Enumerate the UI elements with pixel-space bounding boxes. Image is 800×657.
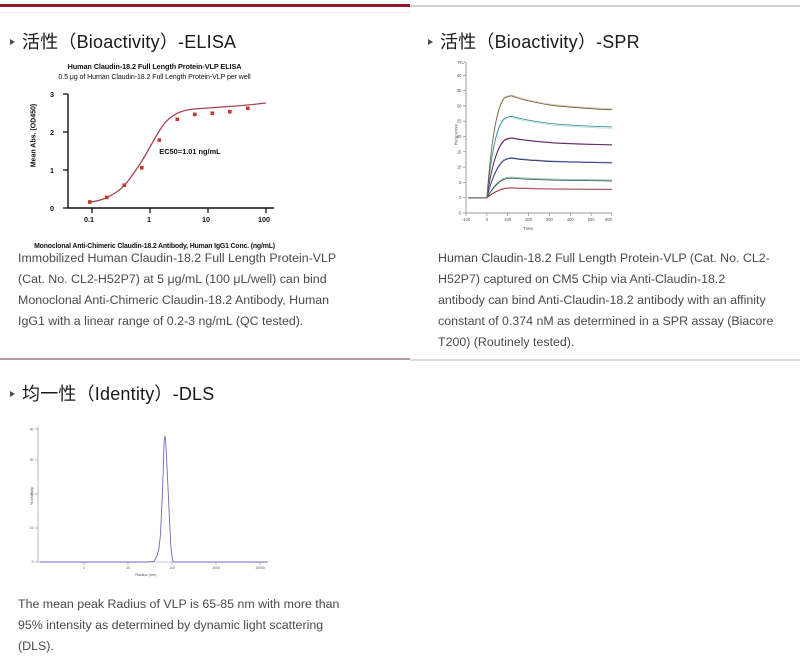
chart-spr-svg: -5 0 5 10 15 20 25 30 35 40 — [444, 58, 612, 228]
chart-elisa: Human Claudin-18.2 Full Length Protein-V… — [22, 62, 287, 234]
section-title-spr: 活性（Bioactivity）-SPR — [440, 28, 640, 54]
svg-text:300: 300 — [546, 217, 554, 222]
triangle-bullet-icon — [10, 39, 15, 45]
section-heading-spr: 活性（Bioactivity）-SPR — [428, 28, 640, 54]
elisa-ec50-annotation: EC50=1.01 ng/mL — [159, 147, 221, 156]
svg-text:40: 40 — [457, 73, 462, 78]
svg-text:0: 0 — [32, 560, 34, 564]
middle-divider — [0, 358, 800, 361]
elisa-xtick-0: 0.1 — [84, 215, 94, 224]
spr-x-ticklabels: -100 0 100 200 300 400 500 600 — [462, 217, 612, 222]
top-divider-accent — [0, 4, 410, 7]
chart-elisa-svg: EC50=1.01 ng/mL — [22, 88, 287, 238]
description-spr: Human Claudin-18.2 Full Length Protein-V… — [438, 248, 774, 353]
svg-text:30: 30 — [457, 103, 462, 108]
description-dls: The mean peak Radius of VLP is 65-85 nm … — [18, 594, 348, 657]
elisa-xtick-1: 1 — [147, 215, 151, 224]
section-title-dls: 均一性（Identity）-DLS — [22, 380, 214, 406]
spr-sensorgrams — [468, 95, 612, 198]
chart-elisa-title: Human Claudin-18.2 Full Length Protein-V… — [22, 62, 287, 72]
middle-divider-accent — [0, 358, 410, 360]
chart-spr-xlabel: Time — [444, 226, 612, 231]
svg-text:500: 500 — [588, 217, 596, 222]
svg-text:5: 5 — [459, 180, 462, 185]
svg-text:100: 100 — [504, 217, 512, 222]
section-heading-elisa: 活性（Bioactivity）-ELISA — [10, 28, 236, 54]
dls-x-ticklabels: 1 10 100 1000 10000 — [83, 566, 265, 570]
svg-text:35: 35 — [457, 88, 462, 93]
elisa-xtick-3: 100 — [258, 215, 270, 224]
chart-elisa-plot: Mean Abs. (OD450) — [22, 88, 287, 234]
triangle-bullet-icon — [428, 39, 433, 45]
svg-text:600: 600 — [605, 217, 612, 222]
top-divider — [0, 4, 800, 7]
svg-text:10: 10 — [457, 165, 462, 170]
top-divider-grey — [410, 5, 800, 7]
chart-spr: RU Response -5 — [444, 58, 612, 236]
chart-dls-xlabel: Radius (nm) — [18, 572, 274, 577]
dls-intensity-curve — [40, 436, 268, 562]
elisa-x-ticks — [92, 208, 266, 213]
section-heading-dls: 均一性（Identity）-DLS — [10, 380, 214, 406]
elisa-ytick-1: 1 — [50, 166, 54, 175]
svg-text:-100: -100 — [462, 217, 471, 222]
svg-text:100: 100 — [169, 566, 175, 570]
triangle-bullet-icon — [10, 391, 15, 397]
svg-text:200: 200 — [525, 217, 533, 222]
chart-elisa-ylabel: Mean Abs. (OD450) — [31, 96, 38, 176]
top-divider-hairline — [0, 12, 410, 13]
svg-text:1000: 1000 — [212, 566, 220, 570]
svg-text:10: 10 — [30, 526, 34, 530]
svg-text:-5: -5 — [458, 211, 462, 216]
dls-y-ticks — [35, 429, 38, 562]
chart-spr-yunit: RU — [458, 60, 465, 65]
spr-y-ticks — [463, 75, 466, 213]
svg-text:1: 1 — [83, 566, 85, 570]
section-title-elisa: 活性（Bioactivity）-ELISA — [22, 28, 236, 54]
middle-divider-grey — [410, 359, 800, 361]
svg-text:0: 0 — [486, 217, 489, 222]
spr-x-ticks — [466, 213, 612, 216]
svg-text:30: 30 — [30, 458, 34, 462]
elisa-xtick-2: 10 — [202, 215, 210, 224]
svg-text:10000: 10000 — [255, 566, 265, 570]
description-elisa: Immobilized Human Claudin-18.2 Full Leng… — [18, 248, 343, 332]
chart-dls-svg: 0 10 20 30 40 1 10 100 1000 10000 — [18, 424, 274, 574]
elisa-ytick-0: 0 — [50, 204, 54, 213]
elisa-ytick-3: 3 — [50, 90, 54, 99]
svg-text:10: 10 — [126, 566, 130, 570]
dls-x-ticks — [84, 562, 260, 565]
page-root: 活性（Bioactivity）-ELISA 活性（Bioactivity）-SP… — [0, 0, 800, 657]
svg-text:0: 0 — [459, 195, 462, 200]
svg-text:40: 40 — [30, 427, 34, 431]
svg-text:400: 400 — [567, 217, 575, 222]
chart-dls-ylabel: % Intensity — [30, 470, 34, 522]
elisa-ytick-2: 2 — [50, 128, 54, 137]
chart-elisa-subtitle: 0.5 μg of Human Claudin-18.2 Full Length… — [22, 72, 287, 82]
chart-spr-ylabel: Response — [454, 110, 459, 160]
chart-dls: % Intensity 0 10 20 30 40 — [18, 424, 274, 584]
elisa-y-ticks — [63, 94, 68, 208]
